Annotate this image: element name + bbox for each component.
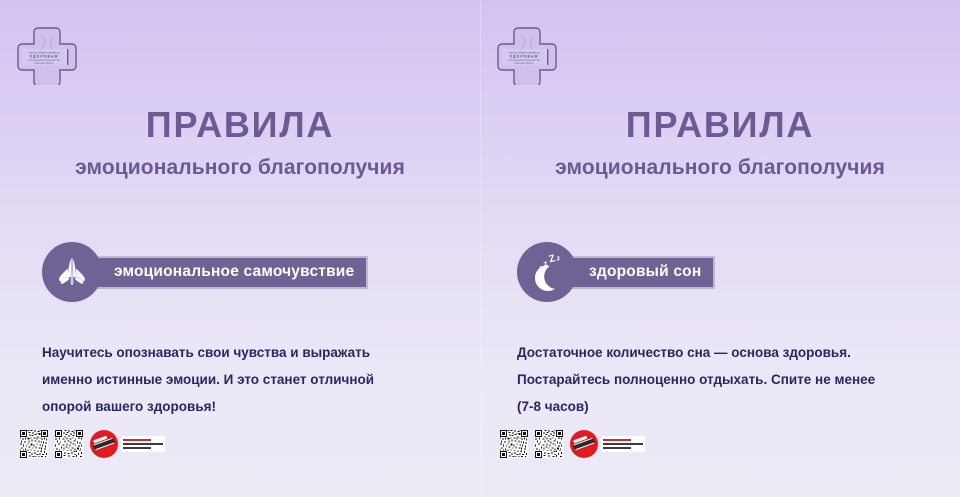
- svg-text:ЗДОРОВЬЯ: ЗДОРОВЬЯ: [30, 55, 58, 59]
- badge-emotional-wellbeing[interactable]: эмоциональное самочувствие: [42, 242, 368, 302]
- svg-text:ЗДОРОВЬЯ: ЗДОРОВЬЯ: [510, 55, 538, 59]
- panel-healthy-sleep: Центр Общественного ЗДОРОВЬЯ и медицинск…: [480, 0, 960, 497]
- panel-body-text: Научитесь опознавать свои чувства и выра…: [42, 339, 442, 420]
- red-circle-stamp-icon: [570, 430, 645, 458]
- qr-code-1[interactable]: [20, 430, 48, 458]
- panel-subheading-block: эмоционального благополучия: [480, 157, 960, 178]
- badge-label: здоровый сон: [571, 256, 715, 289]
- stamp-caption: [121, 436, 165, 452]
- praying-hands-icon: [42, 242, 102, 302]
- svg-text:Липецкой области: Липецкой области: [34, 62, 54, 65]
- page-title: ПРАВИЛА: [0, 107, 480, 143]
- footer-codes: [20, 430, 165, 458]
- svg-text:Липецкой области: Липецкой области: [514, 62, 534, 65]
- crescent-moon-zzz-icon: z z Z z: [517, 242, 577, 302]
- org-logo-cross: Центр Общественного ЗДОРОВЬЯ и медицинск…: [497, 25, 557, 85]
- qr-code-2[interactable]: [535, 430, 563, 458]
- panel-subheading-block: эмоционального благополучия: [0, 157, 480, 178]
- svg-text:и медицинской профилактики: и медицинской профилактики: [508, 59, 541, 62]
- poster-board: Центр Общественного ЗДОРОВЬЯ и медицинск…: [0, 0, 960, 497]
- svg-text:z: z: [556, 255, 561, 263]
- page-title: ПРАВИЛА: [480, 107, 960, 143]
- badge-label: эмоциональное самочувствие: [96, 256, 368, 289]
- panel-body-text: Достаточное количество сна — основа здор…: [517, 339, 937, 420]
- stamp-emblem: [570, 430, 598, 458]
- page-subtitle: эмоционального благополучия: [0, 157, 480, 178]
- panel-heading-block: ПРАВИЛА: [0, 107, 480, 143]
- red-circle-stamp-icon: [90, 430, 165, 458]
- page-subtitle: эмоционального благополучия: [480, 157, 960, 178]
- footer-codes: [500, 430, 645, 458]
- qr-code-2[interactable]: [55, 430, 83, 458]
- qr-code-1[interactable]: [500, 430, 528, 458]
- stamp-caption: [601, 436, 645, 452]
- stamp-emblem: [90, 430, 118, 458]
- org-logo-cross: Центр Общественного ЗДОРОВЬЯ и медицинск…: [17, 25, 77, 85]
- panel-emotional-wellbeing: Центр Общественного ЗДОРОВЬЯ и медицинск…: [0, 0, 480, 497]
- badge-healthy-sleep[interactable]: z z Z z здоровый сон: [517, 242, 715, 302]
- panel-heading-block: ПРАВИЛА: [480, 107, 960, 143]
- svg-text:и медицинской профилактики: и медицинской профилактики: [28, 59, 61, 62]
